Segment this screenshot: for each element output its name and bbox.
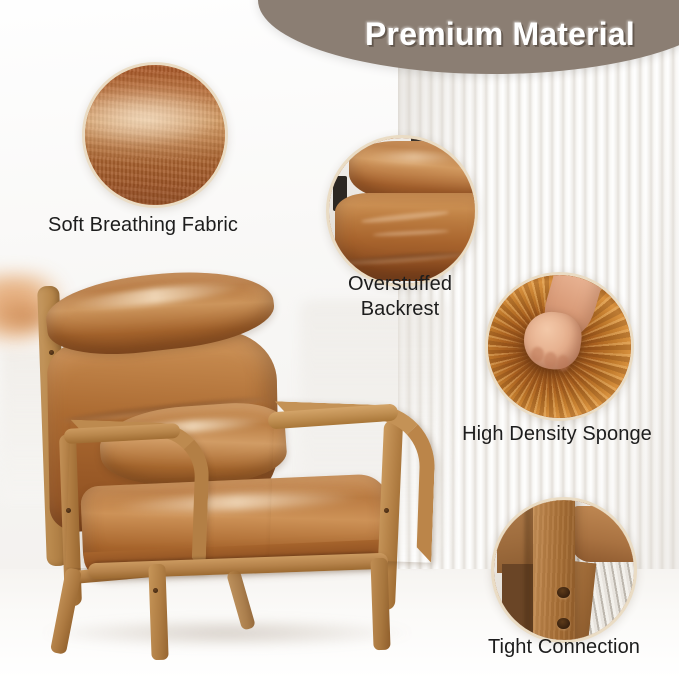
callout-image-high-density-sponge xyxy=(485,272,634,421)
callout-label-overstuffed-backrest: Overstuffed Backrest xyxy=(326,272,474,322)
backrest-crop-panel xyxy=(335,193,475,281)
wood-joint-texture xyxy=(494,500,634,640)
screw-hole-icon xyxy=(557,618,570,629)
chair-floor-shadow xyxy=(42,618,412,648)
fist-knuckle xyxy=(531,347,544,363)
callout-image-tight-connection xyxy=(491,497,637,643)
callout-image-soft-breathing-fabric xyxy=(82,62,228,208)
leather-grain-texture xyxy=(85,65,225,205)
wood-joint-seat-rail xyxy=(572,506,634,562)
chair-leg-back-right xyxy=(370,558,390,651)
overstuffed-backrest-photo xyxy=(329,138,475,284)
callout-label-high-density-sponge: High Density Sponge xyxy=(447,422,667,447)
chair-frame-peg xyxy=(66,508,71,513)
fist-knuckle xyxy=(557,355,570,371)
chair-leg-front-right xyxy=(148,564,168,661)
infographic-canvas: Premium Material Soft Breathing Fabric xyxy=(0,0,679,679)
tight-connection-photo xyxy=(494,500,634,640)
chair-frame-peg xyxy=(49,350,54,355)
wood-joint-main-post xyxy=(533,500,575,640)
callout-label-tight-connection: Tight Connection xyxy=(451,635,677,660)
chair-frame-peg xyxy=(384,508,389,513)
callout-image-overstuffed-backrest xyxy=(326,135,478,287)
callout-label-soft-breathing-fabric: Soft Breathing Fabric xyxy=(48,213,288,238)
leather-swatch-photo xyxy=(85,65,225,205)
backrest-crop-texture xyxy=(329,138,475,284)
fist-knuckle xyxy=(544,352,557,368)
sponge-cushion-texture xyxy=(488,275,631,418)
high-density-sponge-photo xyxy=(488,275,631,418)
screw-hole-icon xyxy=(557,587,570,598)
page-title: Premium Material xyxy=(300,10,679,58)
chair-frame-peg xyxy=(153,588,158,593)
